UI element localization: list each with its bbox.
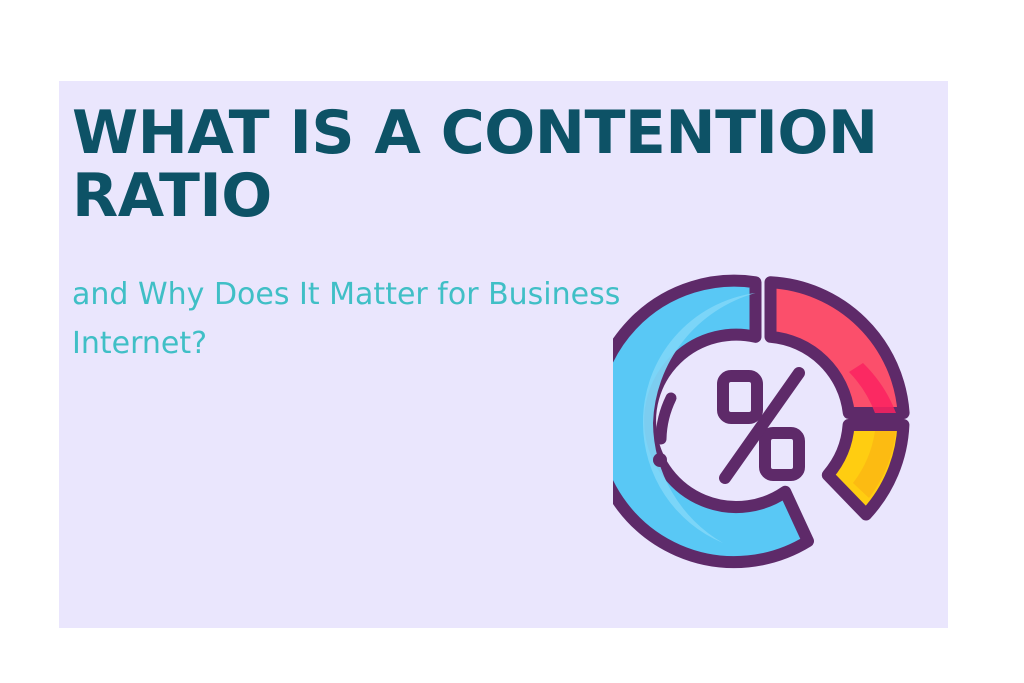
banner-text-block: What is a Contention Ratio and Why Does … xyxy=(72,102,692,368)
hero-banner-panel: What is a Contention Ratio and Why Does … xyxy=(59,81,948,628)
page-canvas: What is a Contention Ratio and Why Does … xyxy=(0,0,1024,683)
donut-yellow-segment xyxy=(828,425,904,515)
page-title: What is a Contention Ratio xyxy=(72,102,952,228)
highlight-dot-icon xyxy=(653,453,667,467)
percent-symbol-icon xyxy=(723,373,799,478)
page-subtitle: and Why Does It Matter for Business Inte… xyxy=(72,228,632,368)
donut-chart-illustration xyxy=(613,273,913,573)
percent-donut-icon xyxy=(613,273,913,573)
highlight-stroke-icon xyxy=(661,398,671,439)
